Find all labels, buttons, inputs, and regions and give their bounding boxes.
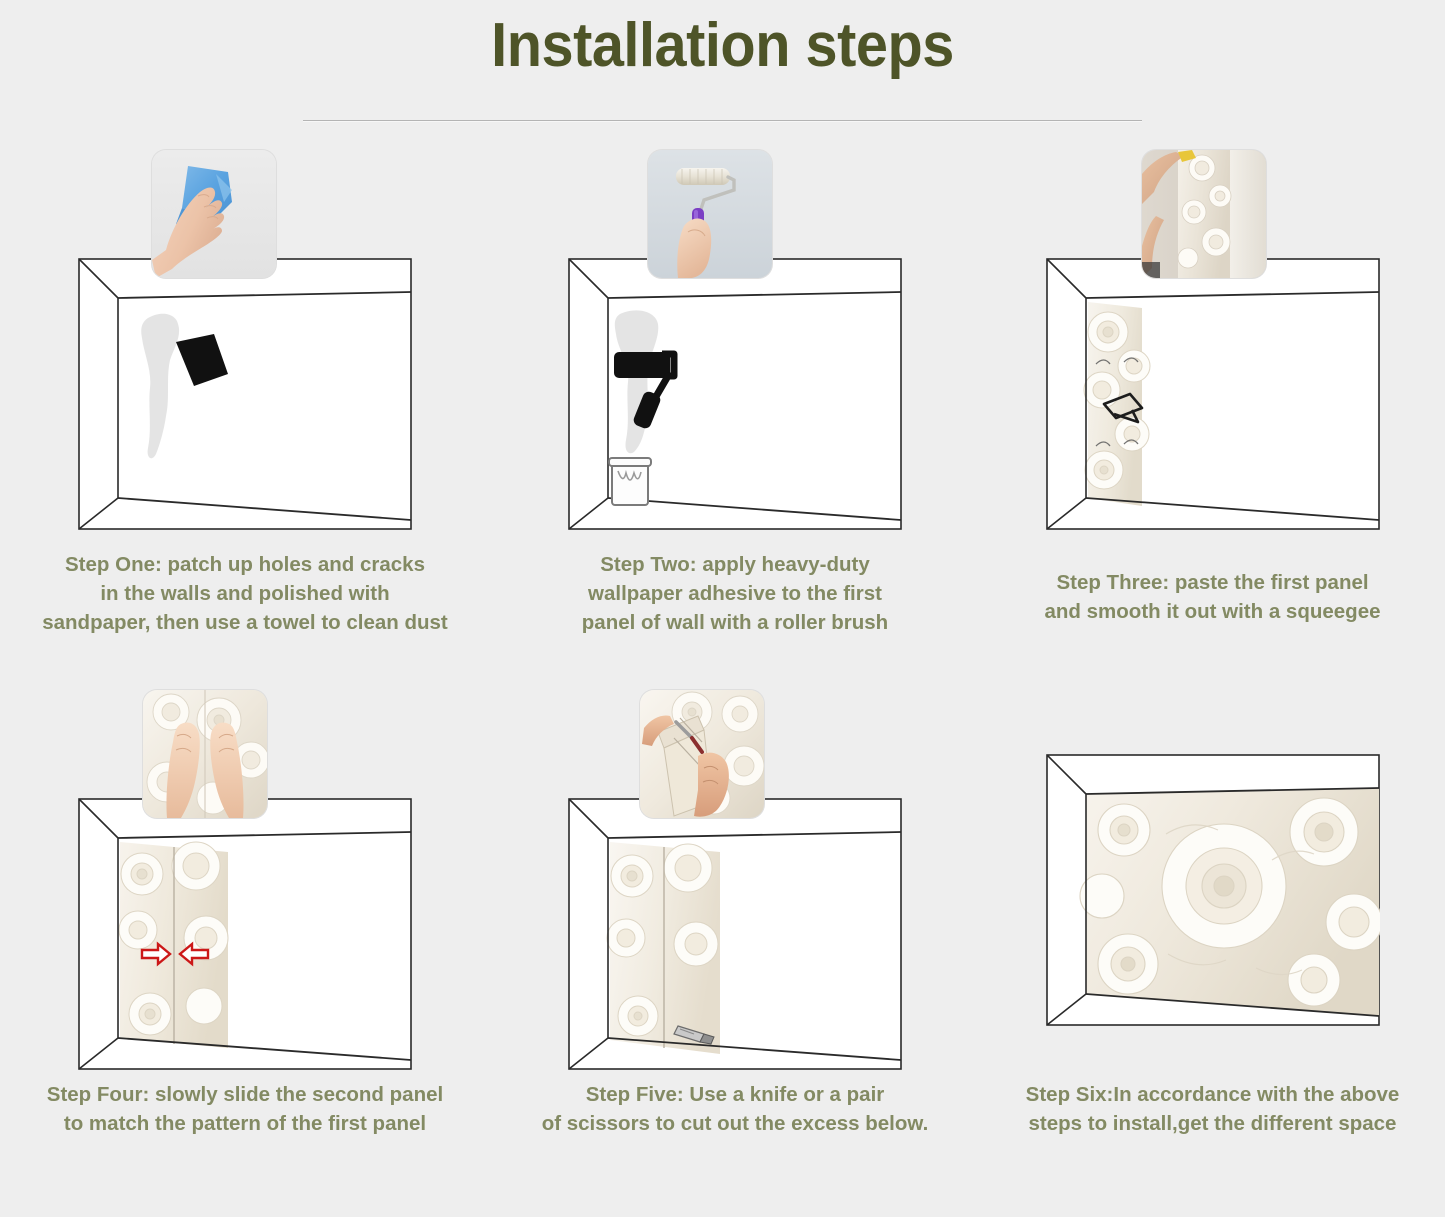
page-title: Installation steps [51,0,1395,81]
step-card-five: Step Five: Use a knife or a pair of scis… [490,690,980,1210]
step-caption-four: Step Four: slowly slide the second panel… [0,1080,490,1138]
step-card-one: Step One: patch up holes and cracks in t… [0,150,490,690]
step-caption-five: Step Five: Use a knife or a pair of scis… [490,1080,980,1138]
photo-inset-step-one [152,150,276,278]
step-card-four: Step Four: slowly slide the second panel… [0,690,490,1210]
step-card-three: Step Three: paste the first panel and sm… [980,150,1445,690]
finished-rose-mural [1080,788,1380,1016]
step-caption-three: Step Three: paste the first panel and sm… [980,568,1445,626]
step-card-six: Step Six:In accordance with the above st… [980,690,1445,1210]
room-diagram-step-four [78,798,412,1070]
installation-steps-grid: Step One: patch up holes and cracks in t… [0,150,1445,1210]
room-diagram-step-five [568,798,902,1070]
title-divider [303,120,1142,121]
paint-bucket-icon [609,458,651,505]
step-caption-six: Step Six:In accordance with the above st… [980,1080,1445,1138]
step-caption-two: Step Two: apply heavy-duty wallpaper adh… [490,550,980,637]
photo-inset-step-two [648,150,772,278]
room-diagram-step-two [568,258,902,530]
step-caption-one: Step One: patch up holes and cracks in t… [0,550,490,637]
photo-inset-step-three [1142,150,1266,278]
step-card-two: Step Two: apply heavy-duty wallpaper adh… [490,150,980,690]
room-diagram-step-three [1046,258,1380,530]
room-diagram-step-one [78,258,412,530]
rose-panel-pair-trim [607,842,720,1054]
photo-inset-step-five [640,690,764,818]
rose-panel-pair [119,842,228,1048]
room-diagram-step-six [1046,754,1380,1026]
photo-inset-step-four [143,690,267,818]
